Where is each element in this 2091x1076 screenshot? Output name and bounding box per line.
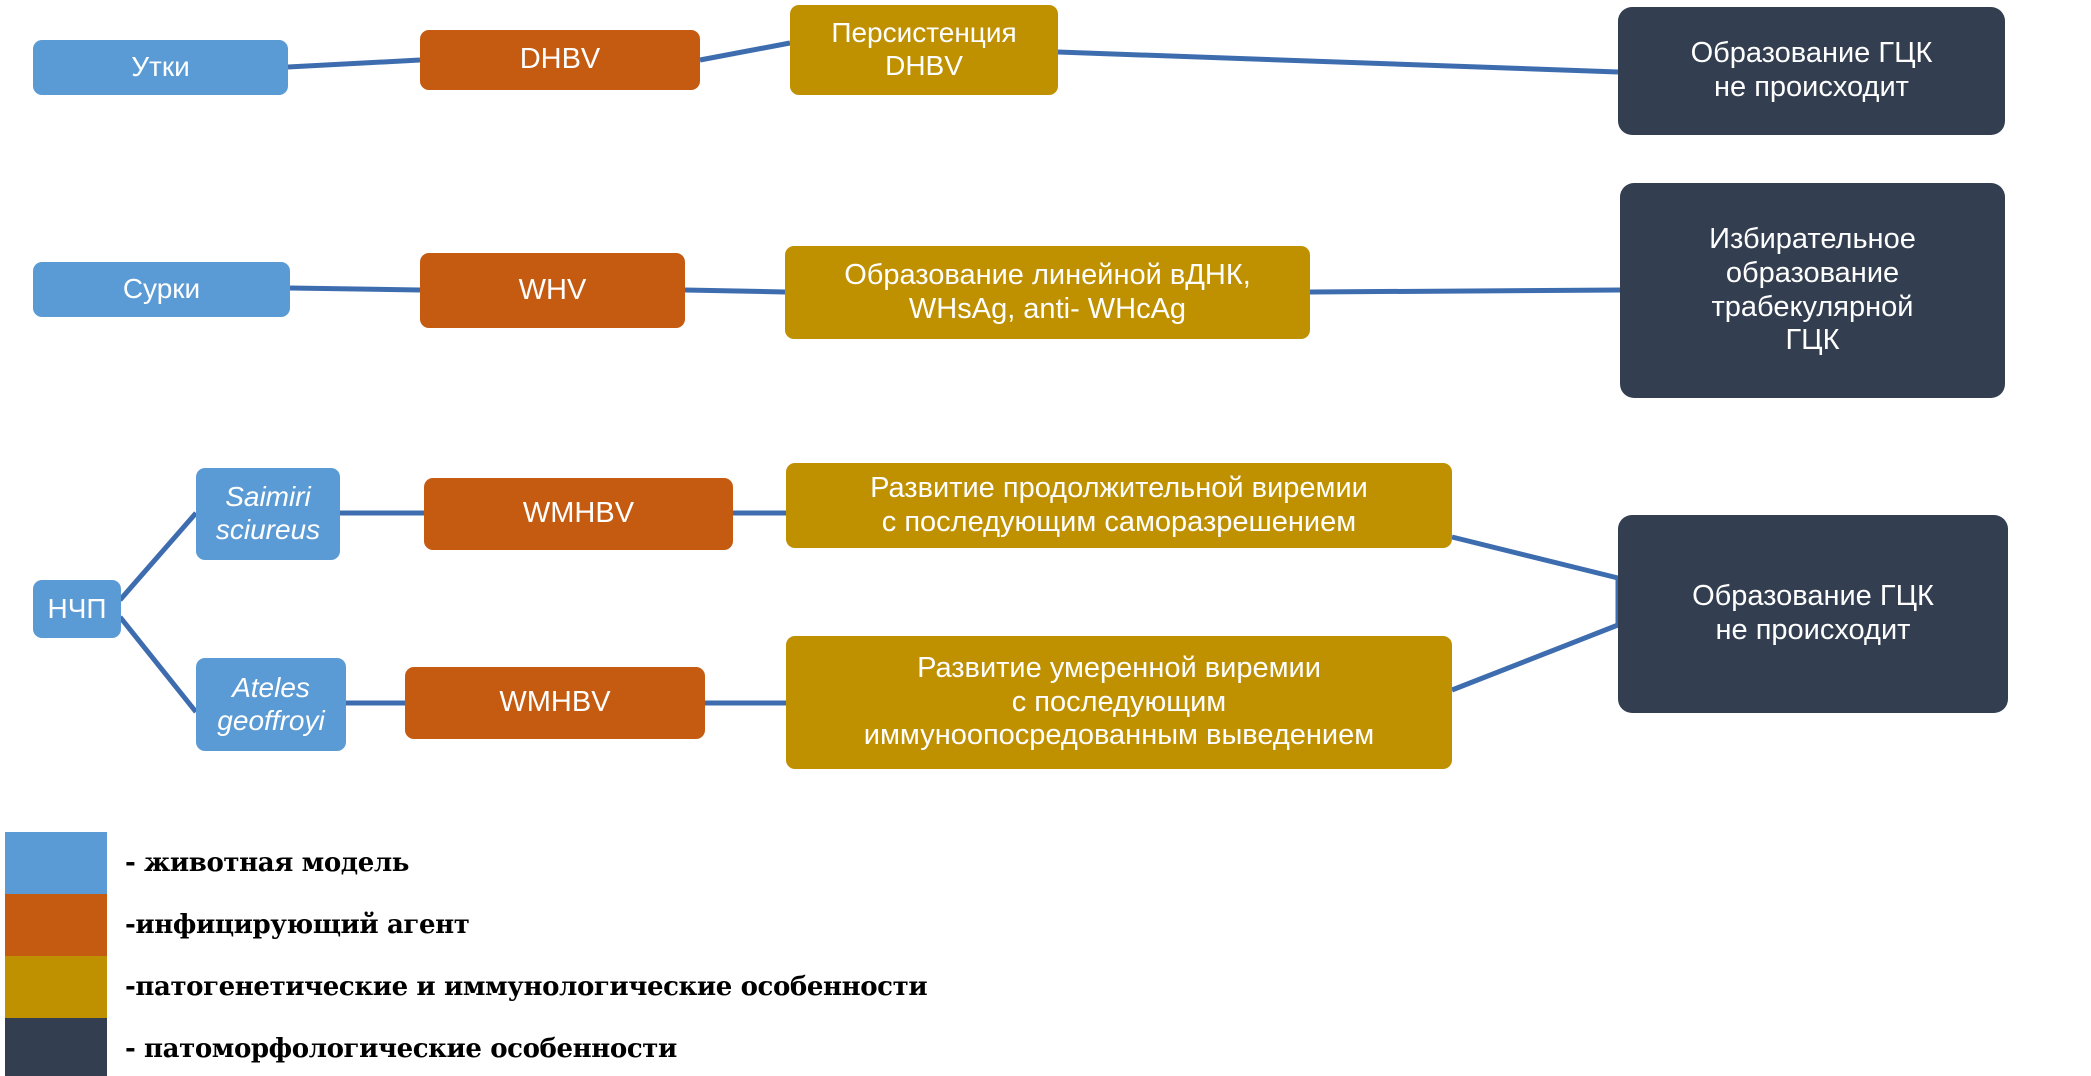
node-saimiri-features[interactable]: Развитие продолжительной виремии с после… bbox=[786, 463, 1452, 548]
link-nhp-ateles bbox=[120, 617, 196, 712]
link-persistence-outcome bbox=[1058, 52, 1618, 72]
node-nhp[interactable]: НЧП bbox=[33, 580, 121, 638]
node-ateles-geoffroyi[interactable]: Ateles geoffroyi bbox=[196, 658, 346, 751]
legend-swatch-pathomorphological bbox=[5, 1018, 107, 1076]
node-outcome-no-hcc-1[interactable]: Образование ГЦК не происходит bbox=[1618, 7, 2005, 135]
legend: - животная модель -инфицирующий агент -п… bbox=[0, 832, 1300, 1076]
link-whv-features bbox=[685, 290, 785, 292]
node-wmhbv-saimiri[interactable]: WMHBV bbox=[424, 478, 733, 550]
link-ducks-dhbv bbox=[288, 60, 420, 67]
link-features2-outcome bbox=[1452, 625, 1618, 690]
node-marmots[interactable]: Сурки bbox=[33, 262, 290, 317]
legend-label-animal-model: - животная модель bbox=[125, 848, 409, 878]
node-ateles-features[interactable]: Развитие умеренной виремии с последующим… bbox=[786, 636, 1452, 769]
link-dhbv-persistence bbox=[700, 43, 790, 60]
diagram-canvas: Утки DHBV Персистенция DHBV Образование … bbox=[0, 0, 2091, 1076]
legend-label-infecting-agent: -инфицирующий агент bbox=[125, 910, 469, 940]
legend-row-pathogenetic: -патогенетические и иммунологические осо… bbox=[0, 956, 1300, 1018]
node-outcome-trabecular-hcc[interactable]: Избирательное образование трабекулярной … bbox=[1620, 183, 2005, 398]
node-ducks[interactable]: Утки bbox=[33, 40, 288, 95]
legend-row-animal-model: - животная модель bbox=[0, 832, 1300, 894]
legend-row-infecting-agent: -инфицирующий агент bbox=[0, 894, 1300, 956]
node-outcome-no-hcc-2[interactable]: Образование ГЦК не происходит bbox=[1618, 515, 2008, 713]
link-features-outcome bbox=[1310, 290, 1620, 292]
legend-label-pathomorphological: - патоморфологические особенности bbox=[125, 1034, 677, 1064]
link-features1-outcome bbox=[1452, 537, 1618, 578]
node-dhbv-persistence[interactable]: Персистенция DHBV bbox=[790, 5, 1058, 95]
legend-row-pathomorphological: - патоморфологические особенности bbox=[0, 1018, 1300, 1076]
node-whv-features[interactable]: Образование линейной вДНК, WHsAg, anti- … bbox=[785, 246, 1310, 339]
node-dhbv[interactable]: DHBV bbox=[420, 30, 700, 90]
legend-swatch-pathogenetic bbox=[5, 956, 107, 1018]
link-nhp-saimiri bbox=[120, 513, 196, 600]
legend-swatch-animal-model bbox=[5, 832, 107, 894]
legend-label-pathogenetic: -патогенетические и иммунологические осо… bbox=[125, 972, 927, 1002]
node-wmhbv-ateles[interactable]: WMHBV bbox=[405, 667, 705, 739]
link-marmots-whv bbox=[290, 288, 420, 290]
legend-swatch-infecting-agent bbox=[5, 894, 107, 956]
node-saimiri-sciureus[interactable]: Saimiri sciureus bbox=[196, 468, 340, 560]
node-whv[interactable]: WHV bbox=[420, 253, 685, 328]
